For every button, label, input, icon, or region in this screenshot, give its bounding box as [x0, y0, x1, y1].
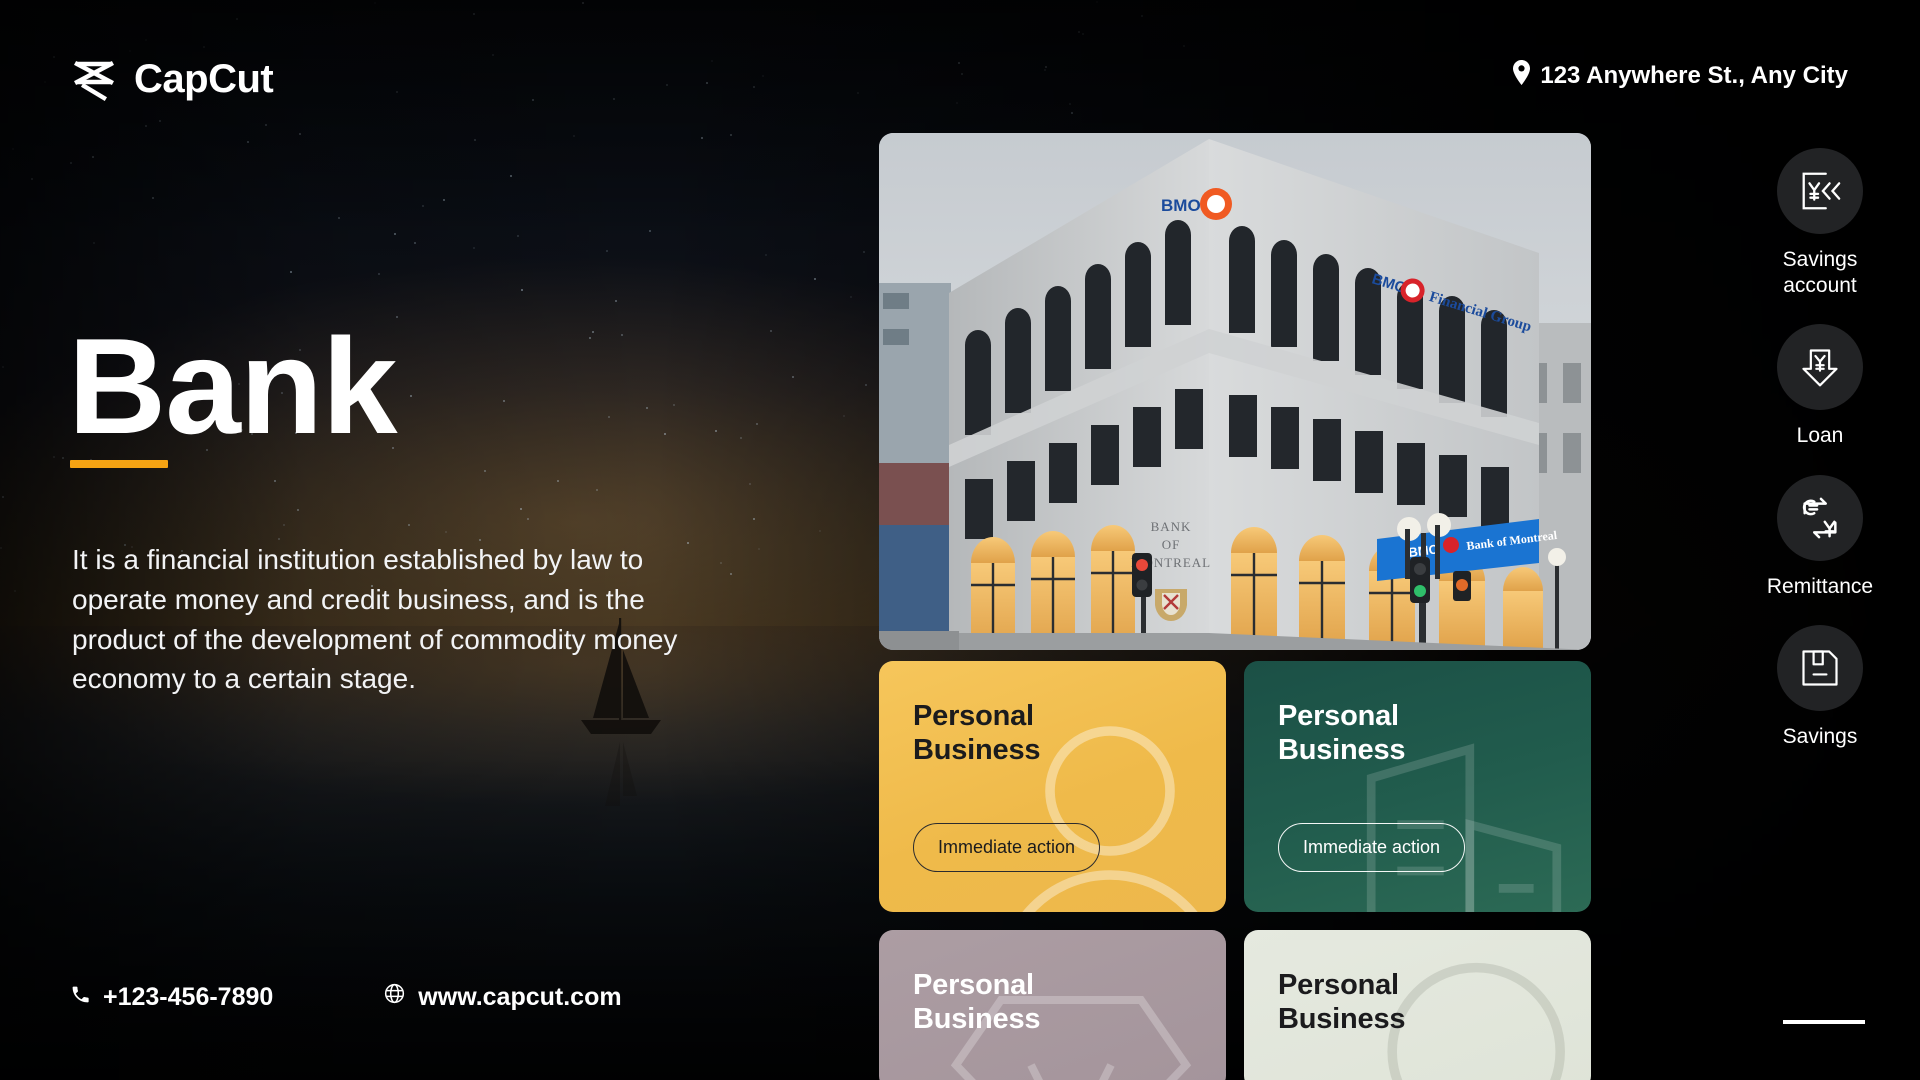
rail-item-label: Remittance: [1767, 574, 1873, 600]
bank-building-photo: BMO BMO Financial Group BMO Bank of Mont…: [879, 133, 1591, 650]
location-pin-icon: [1512, 60, 1531, 92]
website-url: www.capcut.com: [418, 983, 621, 1012]
immediate-action-button[interactable]: Immediate action: [1278, 823, 1465, 872]
service-card[interactable]: Personal Business: [879, 930, 1226, 1080]
save-disk-icon: [1777, 625, 1863, 711]
hero-paragraph: It is a financial institution establishe…: [72, 540, 692, 699]
contact-phone[interactable]: +123-456-7890: [70, 983, 273, 1012]
contact-website[interactable]: www.capcut.com: [383, 982, 621, 1012]
svg-text:BANK: BANK: [1151, 519, 1192, 534]
globe-icon: [383, 982, 406, 1012]
service-card-title: Personal Business: [1278, 699, 1557, 767]
bottom-rule: [1783, 1020, 1865, 1024]
footer-contacts: +123-456-7890 www.capcut.com: [70, 982, 622, 1012]
rail-item-loan[interactable]: Loan: [1720, 324, 1920, 449]
page-title: Bank: [68, 318, 397, 454]
rail-item-label: Savings: [1783, 724, 1858, 750]
service-card-grid: Personal BusinessImmediate action Person…: [879, 661, 1591, 1080]
service-rail: Savings account Loan Remittance Savings: [1720, 148, 1920, 776]
yen-transfer-icon: [1777, 148, 1863, 234]
svg-text:OF: OF: [1162, 537, 1181, 552]
phone-number: +123-456-7890: [103, 983, 273, 1012]
service-card[interactable]: Personal Business: [1244, 930, 1591, 1080]
service-card-title: Personal Business: [1278, 968, 1557, 1036]
address-text: 123 Anywhere St., Any City: [1540, 62, 1848, 90]
rail-item-remittance[interactable]: Remittance: [1720, 475, 1920, 600]
header-address: 123 Anywhere St., Any City: [1512, 60, 1848, 92]
title-accent-underline: [70, 460, 168, 468]
immediate-action-button[interactable]: Immediate action: [913, 823, 1100, 872]
yen-down-arrow-icon: [1777, 324, 1863, 410]
rail-item-savings-account[interactable]: Savings account: [1720, 148, 1920, 298]
svg-text:BMO: BMO: [1161, 196, 1201, 215]
capcut-logo-icon: [70, 55, 118, 103]
currency-exchange-icon: [1777, 475, 1863, 561]
rail-item-savings[interactable]: Savings: [1720, 625, 1920, 750]
service-card[interactable]: Personal BusinessImmediate action: [879, 661, 1226, 912]
rail-item-label: Loan: [1797, 423, 1844, 449]
brand-name: CapCut: [134, 57, 273, 102]
service-card-title: Personal Business: [913, 968, 1192, 1036]
brand-logo[interactable]: CapCut: [70, 55, 273, 103]
service-card-title: Personal Business: [913, 699, 1192, 767]
rail-item-label: Savings account: [1783, 247, 1858, 298]
phone-icon: [70, 983, 91, 1012]
service-card[interactable]: Personal BusinessImmediate action: [1244, 661, 1591, 912]
